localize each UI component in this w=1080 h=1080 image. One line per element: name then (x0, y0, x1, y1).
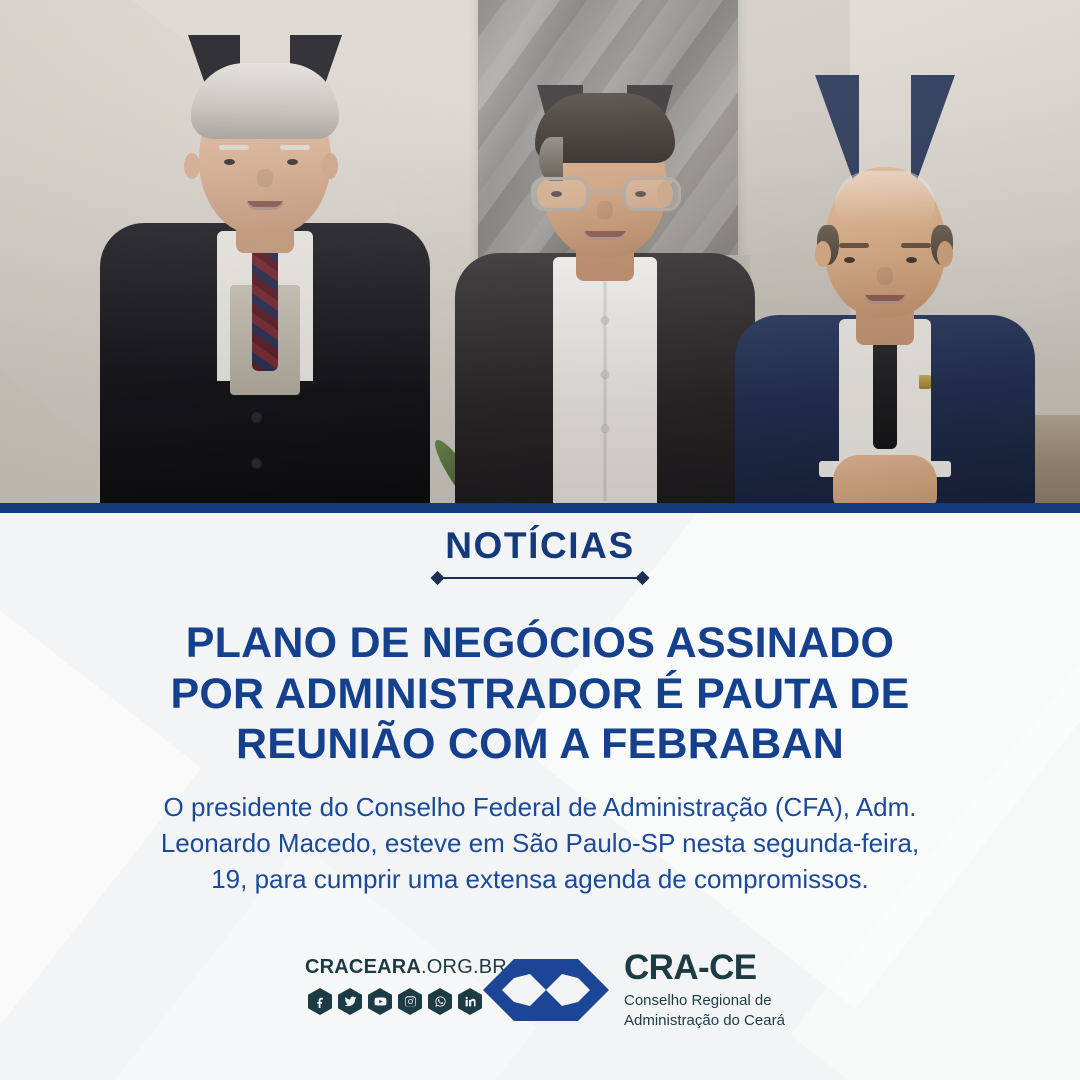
headline-line-2: POR ADMINISTRADOR É PAUTA DE (60, 669, 1020, 720)
person-left-button-upper (252, 413, 261, 422)
headline-line-3: REUNIÃO COM A FEBRABAN (60, 719, 1020, 770)
person-center-shirt-placket (604, 261, 607, 501)
person-right-ear-right (937, 241, 953, 267)
photo-person-center (455, 85, 755, 505)
person-center-hair-side (539, 137, 563, 181)
person-right-nose (877, 267, 893, 285)
social-links (305, 988, 485, 1015)
person-left-ear-right (322, 153, 338, 179)
brand-divider-bar (0, 503, 1080, 513)
person-center-nose (597, 201, 613, 219)
twitter-icon[interactable] (338, 988, 362, 1015)
whatsapp-icon[interactable] (428, 988, 452, 1015)
kicker-label: NOTÍCIAS (0, 525, 1080, 567)
person-center-shirt-button-2 (602, 371, 609, 378)
kicker-divider-dot-right (635, 571, 649, 585)
logo-subtitle: Conselho Regional de Administração do Ce… (624, 991, 785, 1029)
linkedin-icon[interactable] (458, 988, 482, 1015)
website-url-brand: CRACEARA (305, 956, 421, 978)
person-left-eye-left (224, 159, 235, 165)
person-left-mouth (247, 201, 283, 210)
logo-text-block: CRA-CE Conselho Regional de Administraçã… (624, 950, 785, 1029)
logo-subtitle-line-2: Administração do Ceará (624, 1011, 785, 1030)
summary-line-3: 19, para cumprir uma extensa agenda de c… (90, 862, 990, 898)
website-url[interactable]: CRACEARA.ORG.BR (305, 956, 485, 979)
person-right-eye-left (844, 257, 855, 263)
kicker-divider-line (439, 577, 642, 579)
footer: CRACEARA.ORG.BR (0, 948, 1080, 1038)
instagram-icon[interactable] (398, 988, 422, 1015)
cra-ce-logo[interactable]: CRA-CE Conselho Regional de Administraçã… (483, 948, 785, 1032)
summary-line-1: O presidente do Conselho Federal de Admi… (90, 790, 990, 826)
person-left-brow-left (219, 145, 249, 150)
person-right-clasped-hands (833, 455, 937, 505)
cra-logo-mark (483, 948, 609, 1032)
person-left-nose (257, 169, 273, 187)
person-center-shirt-button-3 (602, 425, 609, 432)
news-poster: NOTÍCIAS PLANO DE NEGÓCIOS ASSINADO POR … (0, 0, 1080, 1080)
person-left-button-lower (252, 459, 261, 468)
person-left-brow-right (280, 145, 310, 150)
person-center-mouth (584, 231, 626, 240)
facebook-icon[interactable] (308, 988, 332, 1015)
person-center-shirt-button-1 (602, 317, 609, 324)
youtube-icon[interactable] (368, 988, 392, 1015)
kicker-divider (433, 573, 648, 583)
person-right-brow-left (839, 243, 869, 248)
person-right-mouth (865, 295, 905, 304)
person-right-eye-right (906, 257, 917, 263)
person-left-ear-left (184, 153, 200, 179)
article-summary: O presidente do Conselho Federal de Admi… (90, 790, 990, 898)
photo-person-right (735, 75, 1035, 505)
logo-subtitle-line-1: Conselho Regional de (624, 991, 785, 1010)
person-left-tie (252, 243, 278, 371)
page-title: PLANO DE NEGÓCIOS ASSINADO POR ADMINISTR… (60, 618, 1020, 770)
person-right-lapel-pin (919, 375, 931, 389)
person-right-ear-left (815, 241, 831, 267)
person-right-head-highlight (835, 171, 935, 225)
hero-photo (0, 0, 1080, 505)
headline-line-1: PLANO DE NEGÓCIOS ASSINADO (60, 618, 1020, 669)
person-left-eye-right (287, 159, 298, 165)
logo-title: CRA-CE (624, 950, 785, 985)
person-right-brow-right (901, 243, 931, 248)
summary-line-2: Leonardo Macedo, esteve em São Paulo-SP … (90, 826, 990, 862)
site-and-socials: CRACEARA.ORG.BR (305, 956, 485, 1015)
person-left-hair (191, 63, 339, 139)
photo-person-left (100, 35, 430, 505)
person-right-tie (873, 329, 897, 449)
